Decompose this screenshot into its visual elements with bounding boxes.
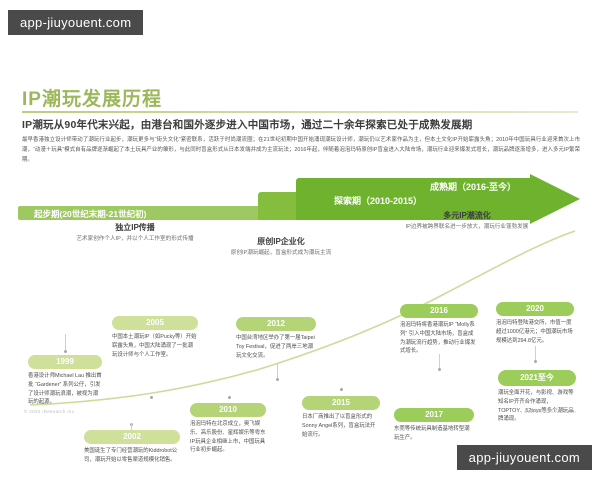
connector-dot [150,396,153,399]
connector-stem [439,354,440,368]
milestone-year-badge: 2021至今 [498,370,576,386]
phase-band-label-1: 起步期(20世纪末期-21世纪初) [34,208,146,220]
title-divider [22,111,578,113]
watermark-top: app-jiuyouent.com [8,10,143,35]
milestone-card: 2015 日本厂商推出了以盲盒形式的Sonny Angel系列，盲盒玩法开始流行… [302,396,380,439]
milestone-text: 泡泡玛特在北京成立，奥飞娱乐、高乐股份、星辉娱乐等粤东IP玩具企业相继上市，中国… [190,420,266,455]
milestone-year-badge: 2020 [496,302,574,316]
connector-dot [64,350,67,353]
phase-block-3: 多元IP潮流化 IP边界被跨界联名进一步放大，潮玩行业蓬勃发展 [352,210,582,231]
phase-desc-3: IP边界被跨界联名进一步放大，潮玩行业蓬勃发展 [352,223,582,231]
phase-heading-1: 独立IP传播 [20,222,250,233]
page-title: IP潮玩发展历程 [22,84,162,111]
watermark-bottom: app-jiuyouent.com [457,445,592,470]
phase-desc-2: 原创IP潮玩崛起，盲盒形式成为潮玩主流 [206,249,356,257]
connector-stem [131,423,132,431]
milestone-text: 日本厂商推出了以盲盒形式的Sonny Angel系列，盲盒玩法开始流行。 [302,413,380,439]
page-subtitle: IP潮玩从90年代末兴起，由港台和国外逐步进入中国市场，通过二十余年探索已处于成… [22,117,582,132]
connector-dot [276,378,279,381]
milestone-card: 2016 泡泡玛特将香港潮玩IP “Molly系列” 引入中国大陆市场，盲盒成为… [400,304,478,356]
milestone-year-badge: 2015 [302,396,380,410]
milestone-text: 中国台湾地区举办了第一届Taipei Toy Festival，促进了两岸三地潮… [236,334,316,360]
milestone-card: 2020 泡泡玛特登陆港交所，市值一度超过1000亿港元；中国潮玩市场规模达到2… [496,302,574,345]
connector-dot [438,368,441,371]
milestone-text: 美国诞生了专门经营潮玩的Kiddrobot公司，潮玩开始以零售渠道规模化销售。 [84,447,180,465]
milestone-year-badge: 2010 [190,403,266,417]
footer-right: www.iresearch.com.cn [524,409,576,414]
milestone-year-badge: 1999 [28,355,102,369]
phase-band-label-3: 成熟期（2016-至今） [430,180,516,193]
slide-canvas: IP潮玩发展历程 IP潮玩从90年代末兴起，由港台和国外逐步进入中国市场，通过二… [0,78,600,418]
milestone-year-badge: 2016 [400,304,478,318]
phase-heading-2: 原创IP企业化 [206,236,356,247]
footer-left: © 2022 iResearch Inc. [24,409,76,414]
connector-dot [228,396,231,399]
connector-dot [534,360,537,363]
milestone-card: 1999 香港设计师Michael Lau 推出首批 “Gardener” 系列… [28,355,102,407]
milestone-card: 2010 泡泡玛特在北京成立，奥飞娱乐、高乐股份、星辉娱乐等粤东IP玩具企业相继… [190,403,266,455]
milestone-card: 2012 中国台湾地区举办了第一届Taipei Toy Festival，促进了… [236,317,316,360]
page-body-paragraph: 最早香港独立设计师带动了潮玩行业起步，潮玩更多与“街头文化”紧密联系，活跃于时尚… [22,135,580,165]
phase-block-2: 原创IP企业化 原创IP潮玩崛起，盲盒形式成为潮玩主流 [206,236,356,257]
connector-stem [535,346,536,360]
phase-band-label-2: 探索期（2010-2015） [334,194,422,207]
milestone-year-badge: 2017 [394,408,474,422]
milestone-text: 香港设计师Michael Lau 推出首批 “Gardener” 系列公仔，引发… [28,372,102,407]
milestone-text: 泡泡玛特将香港潮玩IP “Molly系列” 引入中国大陆市场，盲盒成为潮玩流行趋… [400,321,478,356]
milestone-text: 泡泡玛特登陆港交所，市值一度超过1000亿港元；中国潮玩市场规模达到294.8亿… [496,319,574,345]
connector-dot [340,388,343,391]
milestone-card: 2002 美国诞生了专门经营潮玩的Kiddrobot公司，潮玩开始以零售渠道规模… [84,430,180,465]
milestone-card: 2005 中国本土潮玩IP（如Pucky等）开始崭露头角，中国大陆涌现了一批潮玩… [112,316,198,359]
milestone-year-badge: 2005 [112,316,198,330]
milestone-text: 中国本土潮玩IP（如Pucky等）开始崭露头角，中国大陆涌现了一批潮玩设计师与个… [112,333,198,359]
milestone-card: 2021至今 潮玩全面开花，与影视、游戏等知名IP齐齐合作涌现，TOPTOY、5… [498,370,576,424]
milestone-text: 东莞等传统玩具制造基地转型潮玩生产。 [394,425,474,443]
milestone-year-badge: 2012 [236,317,316,331]
milestone-text: 潮玩全面开花，与影视、游戏等知名IP齐齐合作涌现，TOPTOY、52toys等多… [498,389,576,424]
milestone-year-badge: 2002 [84,430,180,444]
connector-stem [65,334,66,350]
milestone-card: 2017 东莞等传统玩具制造基地转型潮玩生产。 [394,408,474,443]
phase-heading-3: 多元IP潮流化 [352,210,582,221]
connector-stem [277,364,278,378]
